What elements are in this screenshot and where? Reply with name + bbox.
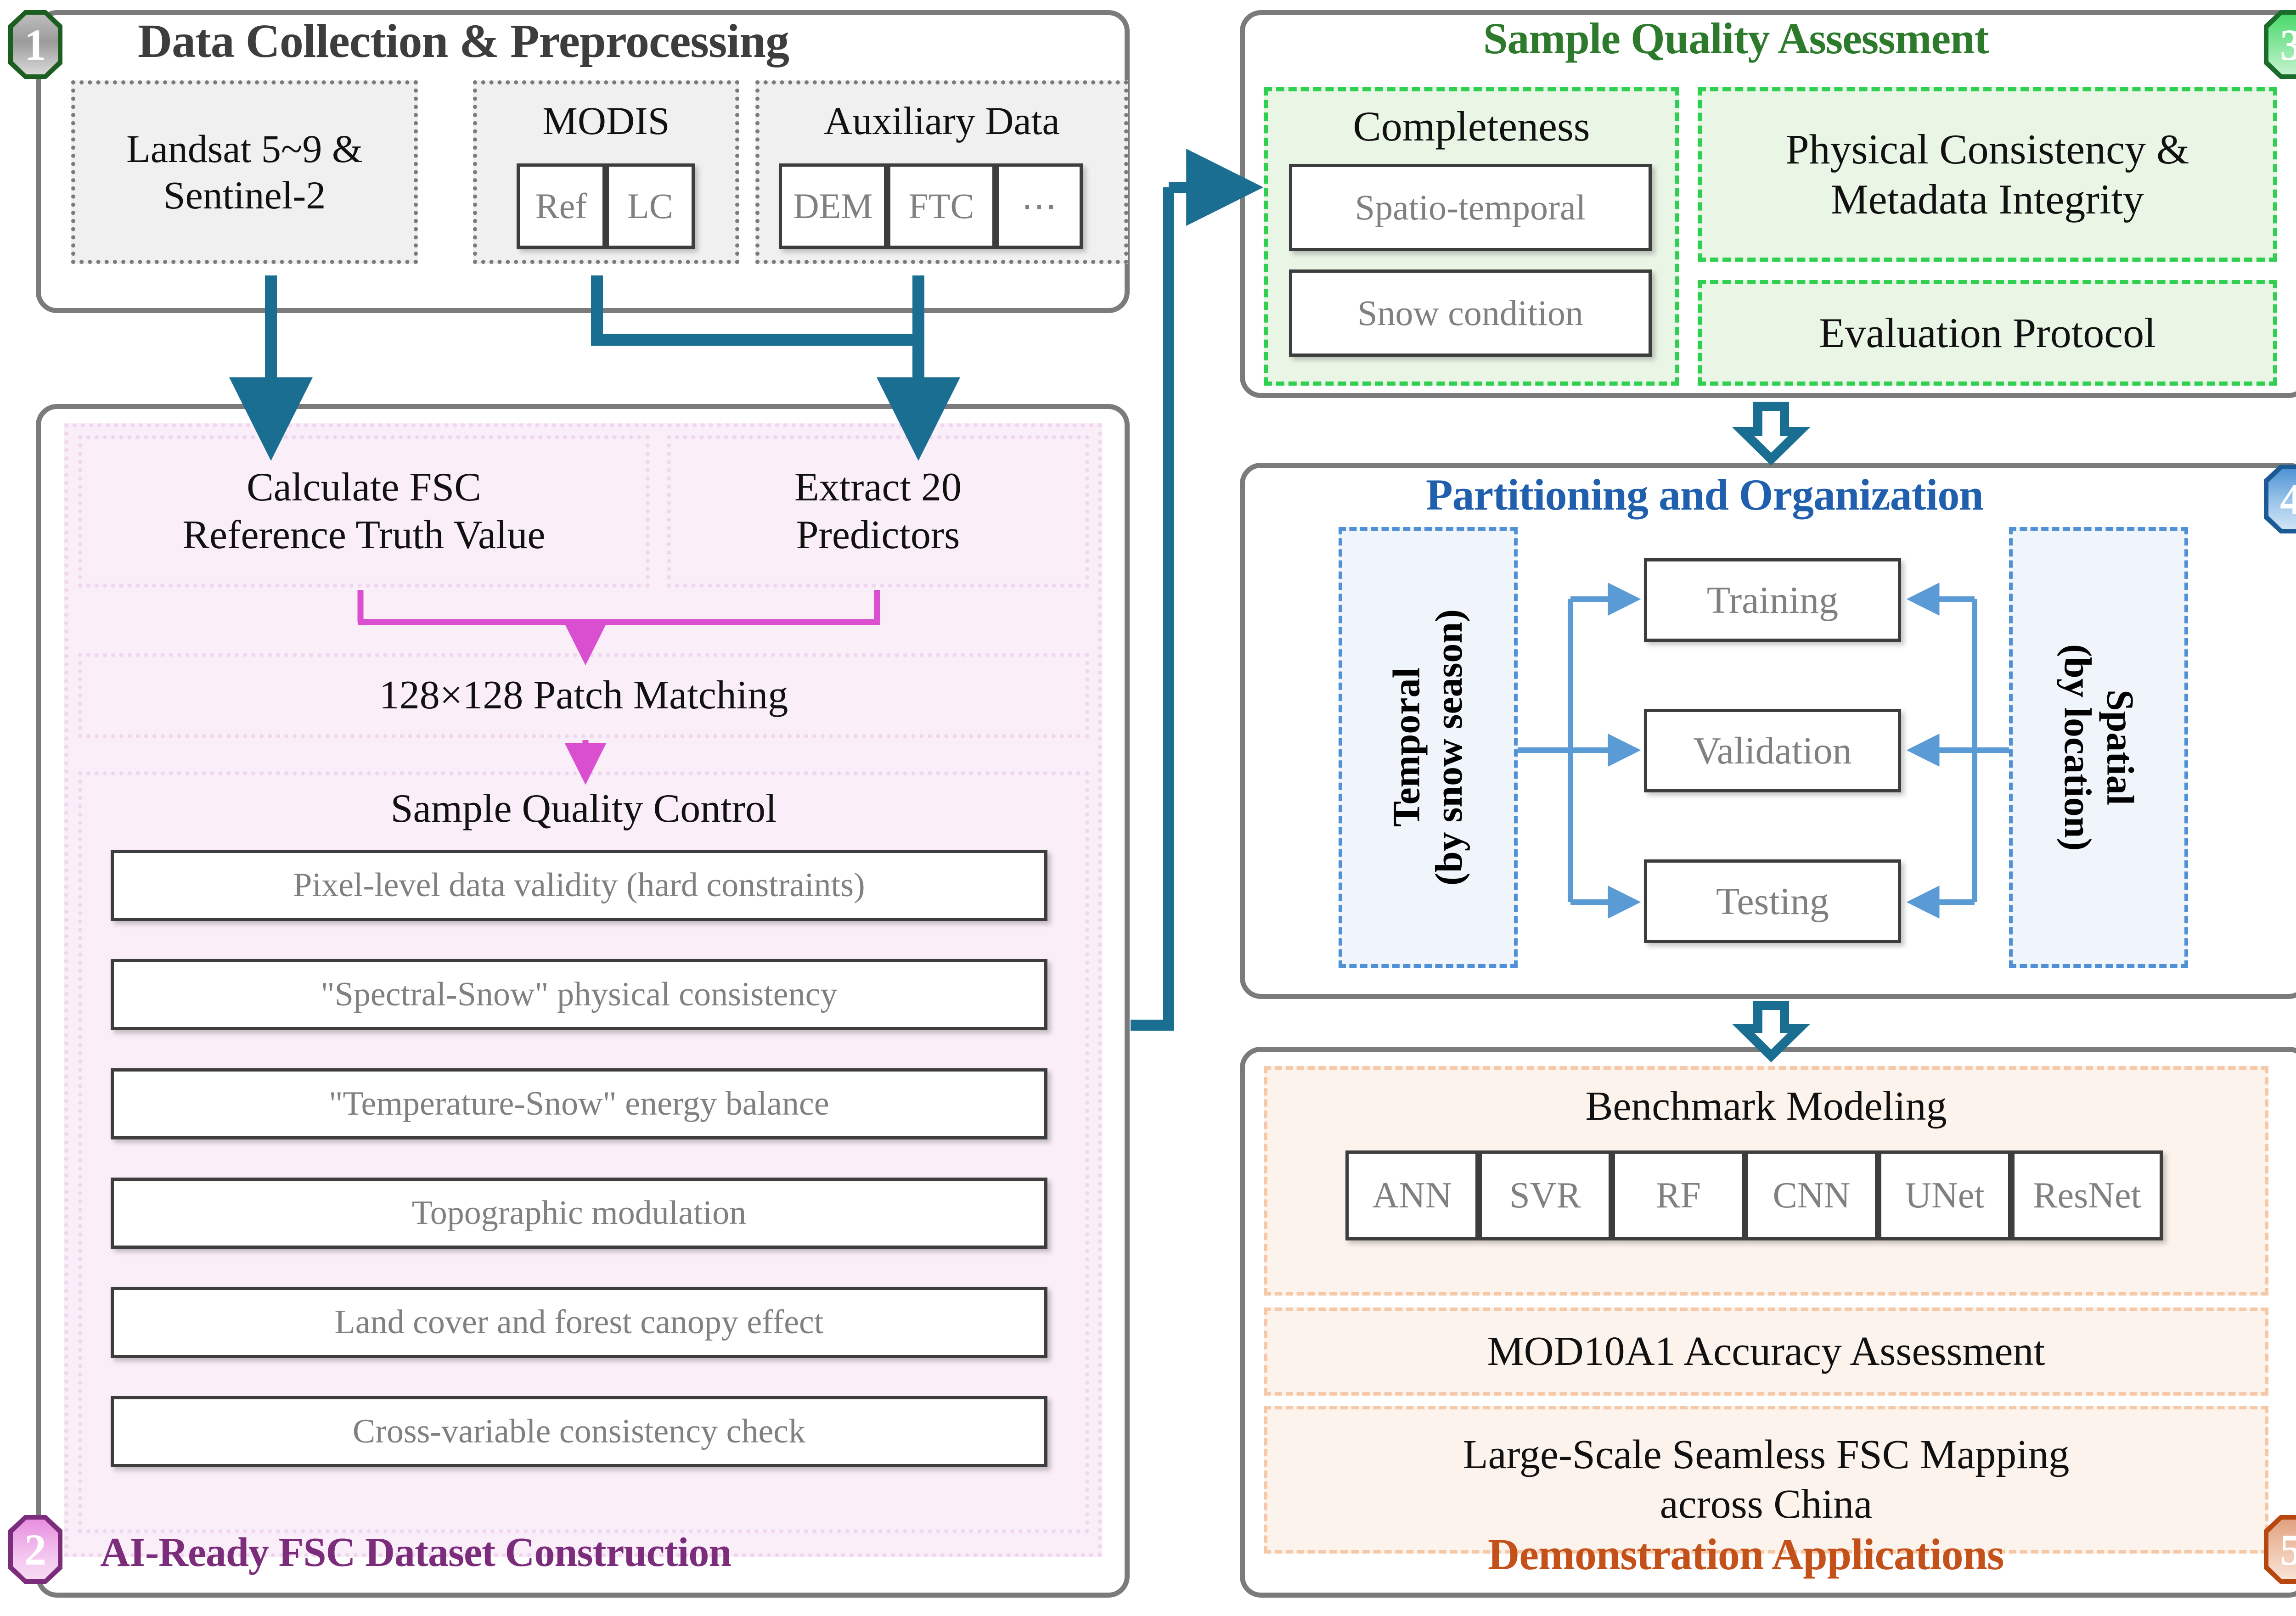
qc-item-4[interactable]: Land cover and forest canopy effect <box>111 1287 1047 1358</box>
badge-1: 1 <box>8 10 62 79</box>
tile-modis-ref[interactable]: Ref <box>517 163 606 249</box>
badge-2: 2 <box>8 1515 62 1584</box>
group-landsat-label: Landsat 5~9 & Sentinel-2 <box>75 84 414 260</box>
group-completeness-label: Completeness <box>1268 93 1675 160</box>
tile-spatio-temporal[interactable]: Spatio-temporal <box>1289 164 1652 251</box>
group-temporal-split-label: Temporal (by snow season) <box>1342 531 1514 964</box>
split-validation[interactable]: Validation <box>1644 709 1901 792</box>
group-modis-label: MODIS <box>477 89 735 153</box>
group-temporal-split: Temporal (by snow season) <box>1339 527 1518 968</box>
group-auxiliary: Auxiliary Data DEM FTC ⋯ <box>755 80 1128 264</box>
group-evaluation-protocol: Evaluation Protocol <box>1698 280 2277 386</box>
badge-3-number: 3 <box>2280 19 2296 70</box>
group-modis: MODIS Ref LC <box>473 80 739 264</box>
benchmark-label: Benchmark Modeling <box>1267 1074 2265 1139</box>
model-cnn[interactable]: CNN <box>1745 1150 1878 1240</box>
qc-item-1[interactable]: "Spectral-Snow" physical consistency <box>111 959 1047 1030</box>
block-arrow-panel3-to-panel4 <box>1743 406 1799 459</box>
box-calculate-fsc: Calculate FSC Reference Truth Value <box>78 435 650 588</box>
box-calculate-fsc-label: Calculate FSC Reference Truth Value <box>82 439 646 584</box>
panel4-title: Partitioning and Organization <box>1426 469 1983 520</box>
badge-4-number: 4 <box>2280 474 2296 525</box>
group-completeness: Completeness Spatio-temporal Snow condit… <box>1264 87 1679 386</box>
row-mod10a1-accuracy-label: MOD10A1 Accuracy Assessment <box>1267 1311 2265 1392</box>
box-extract-predictors: Extract 20 Predictors <box>667 435 1089 588</box>
qc-title: Sample Quality Control <box>82 779 1085 839</box>
qc-item-5[interactable]: Cross-variable consistency check <box>111 1396 1047 1467</box>
qc-item-0[interactable]: Pixel-level data validity (hard constrai… <box>111 850 1047 921</box>
box-patch-matching: 128×128 Patch Matching <box>78 653 1089 738</box>
badge-1-number: 1 <box>24 19 46 70</box>
qc-item-3[interactable]: Topographic modulation <box>111 1178 1047 1249</box>
group-landsat: Landsat 5~9 & Sentinel-2 <box>71 80 418 264</box>
split-training[interactable]: Training <box>1644 558 1901 642</box>
model-rf[interactable]: RF <box>1612 1150 1745 1240</box>
tile-aux-dem[interactable]: DEM <box>779 163 887 249</box>
tile-snow-condition[interactable]: Snow condition <box>1289 269 1652 357</box>
box-patch-matching-label: 128×128 Patch Matching <box>82 657 1085 734</box>
badge-2-number: 2 <box>24 1524 46 1575</box>
panel5-title: Demonstration Applications <box>1488 1529 2003 1580</box>
group-spatial-split-label: Spatial (by location) <box>2013 531 2184 964</box>
qc-item-2[interactable]: "Temperature-Snow" energy balance <box>111 1068 1047 1139</box>
model-resnet[interactable]: ResNet <box>2011 1150 2163 1240</box>
tile-aux-more[interactable]: ⋯ <box>996 163 1083 249</box>
tile-modis-lc[interactable]: LC <box>606 163 695 249</box>
group-physical-consistency-label: Physical Consistency & Metadata Integrit… <box>1702 91 2273 258</box>
row-mod10a1-accuracy: MOD10A1 Accuracy Assessment <box>1264 1307 2268 1396</box>
group-auxiliary-label: Auxiliary Data <box>760 89 1124 153</box>
group-spatial-split: Spatial (by location) <box>2009 527 2188 968</box>
model-unet[interactable]: UNet <box>1878 1150 2011 1240</box>
group-benchmark-modeling: Benchmark Modeling ANN SVR RF CNN UNet R… <box>1264 1066 2268 1296</box>
box-extract-predictors-label: Extract 20 Predictors <box>671 439 1085 584</box>
tile-aux-ftc[interactable]: FTC <box>887 163 996 249</box>
model-svr[interactable]: SVR <box>1479 1150 1612 1240</box>
panel2-title: AI-Ready FSC Dataset Construction <box>100 1529 731 1576</box>
group-physical-consistency: Physical Consistency & Metadata Integrit… <box>1698 87 2277 262</box>
box-sample-quality-control: Sample Quality Control Pixel-level data … <box>78 771 1089 1533</box>
connector-panel2-to-panel3 <box>1131 187 1221 1031</box>
split-testing[interactable]: Testing <box>1644 859 1901 943</box>
panel1-title: Data Collection & Preprocessing <box>138 14 789 68</box>
panel3-title: Sample Quality Assessment <box>1483 13 1988 64</box>
model-ann[interactable]: ANN <box>1345 1150 1479 1240</box>
group-evaluation-protocol-label: Evaluation Protocol <box>1702 284 2273 382</box>
badge-5-number: 5 <box>2280 1524 2296 1575</box>
